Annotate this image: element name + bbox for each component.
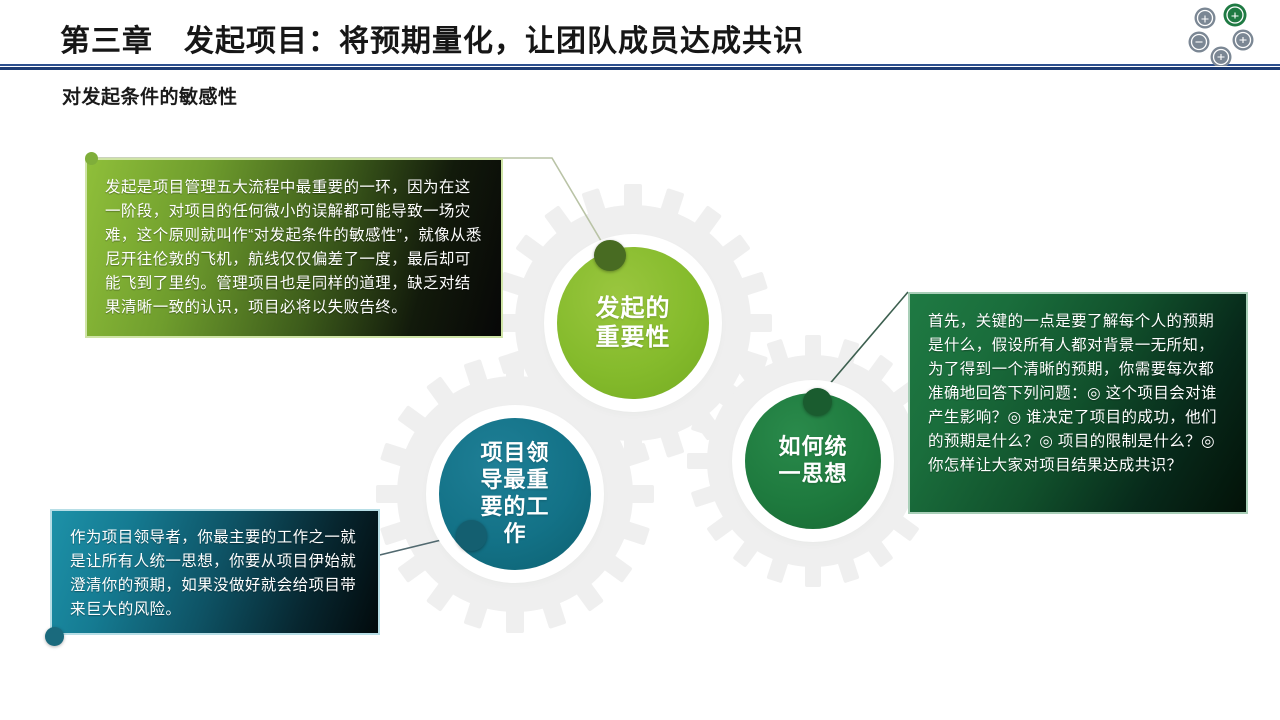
- callout-darkgreen-text: 首先，关键的一点是要了解每个人的预期是什么，假设所有人都对背景一无所知，为了得到…: [928, 310, 1230, 478]
- callout-darkgreen: 首先，关键的一点是要了解每个人的预期是什么，假设所有人都对背景一无所知，为了得到…: [908, 292, 1248, 514]
- slide-canvas: 第三章 发起项目：将预期量化，让团队成员达成共识 对发起条件的敏感性: [0, 0, 1280, 720]
- pin-dot-teal-callout: [45, 627, 64, 646]
- callout-teal: 作为项目领导者，你最主要的工作之一就是让所有人统一思想，你要从项目伊始就澄清你的…: [50, 509, 380, 635]
- callout-green-text: 发起是项目管理五大流程中最重要的一环，因为在这一阶段，对项目的任何微小的误解都可…: [105, 176, 483, 320]
- node-teal-line2: 导最重: [474, 467, 555, 494]
- node-green-line1: 发起的: [590, 294, 677, 323]
- header-divider: [0, 64, 1280, 70]
- callout-teal-text: 作为项目领导者，你最主要的工作之一就是让所有人统一思想，你要从项目伊始就澄清你的…: [70, 526, 362, 622]
- node-green-line2: 重要性: [590, 323, 677, 352]
- node-darkgreen-line2: 一思想: [772, 461, 853, 488]
- page-subtitle: 对发起条件的敏感性: [62, 82, 238, 109]
- node-teal-line3: 要的工: [474, 494, 555, 521]
- node-teal-line1: 项目领: [474, 440, 555, 467]
- connector-darkgreen: [816, 292, 908, 400]
- pin-dot-darkgreen: [803, 388, 832, 416]
- node-darkgreen-line1: 如何统: [772, 434, 853, 461]
- callout-green: 发起是项目管理五大流程中最重要的一环，因为在这一阶段，对项目的任何微小的误解都可…: [85, 158, 503, 338]
- node-initiation-importance[interactable]: 发起的 重要性: [557, 247, 709, 399]
- pin-dot-teal: [456, 520, 487, 551]
- pin-dot-green-callout: [85, 152, 98, 165]
- page-title: 第三章 发起项目：将预期量化，让团队成员达成共识: [60, 16, 804, 60]
- pinwheel-gears-logo: [1184, 0, 1268, 66]
- pin-dot-green: [594, 240, 626, 271]
